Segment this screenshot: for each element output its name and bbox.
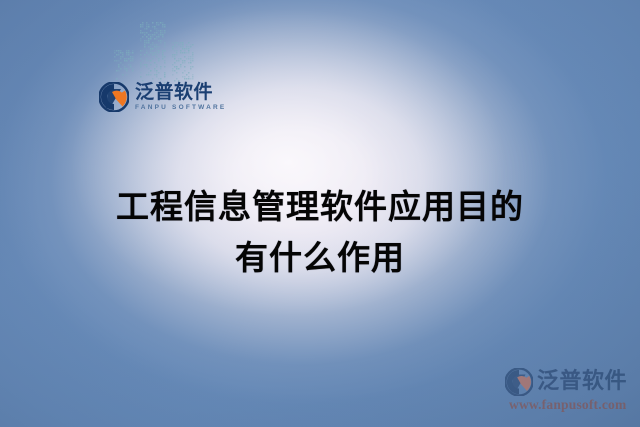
- watermark-logo-row: 泛普软件: [505, 368, 637, 396]
- brand-name-cn: 泛普软件: [135, 83, 226, 102]
- watermark-name-cn: 泛普软件: [537, 371, 627, 393]
- brand-logo: 泛普软件 FANPU SOFTWARE: [99, 82, 226, 112]
- brand-wordmark: 泛普软件 FANPU SOFTWARE: [135, 83, 226, 112]
- pixel-cityscape-icon: [110, 20, 206, 84]
- page-title: 工程信息管理软件应用目的 有什么作用: [0, 181, 640, 283]
- watermark: 泛普软件 www.fanpusoft.com: [505, 368, 637, 420]
- watermark-url: www.fanpusoft.com: [509, 398, 637, 412]
- fanpu-circle-swoosh-icon: [99, 82, 129, 112]
- page-title-line-2: 有什么作用: [0, 232, 640, 283]
- pixel-cityscape-svg: [110, 20, 206, 84]
- page-title-line-1: 工程信息管理软件应用目的: [0, 181, 640, 232]
- image-canvas: 泛普软件 FANPU SOFTWARE 工程信息管理软件应用目的 有什么作用 泛…: [0, 0, 640, 427]
- brand-name-en: FANPU SOFTWARE: [135, 105, 226, 112]
- watermark-fanpu-circle-swoosh-icon: [505, 368, 533, 396]
